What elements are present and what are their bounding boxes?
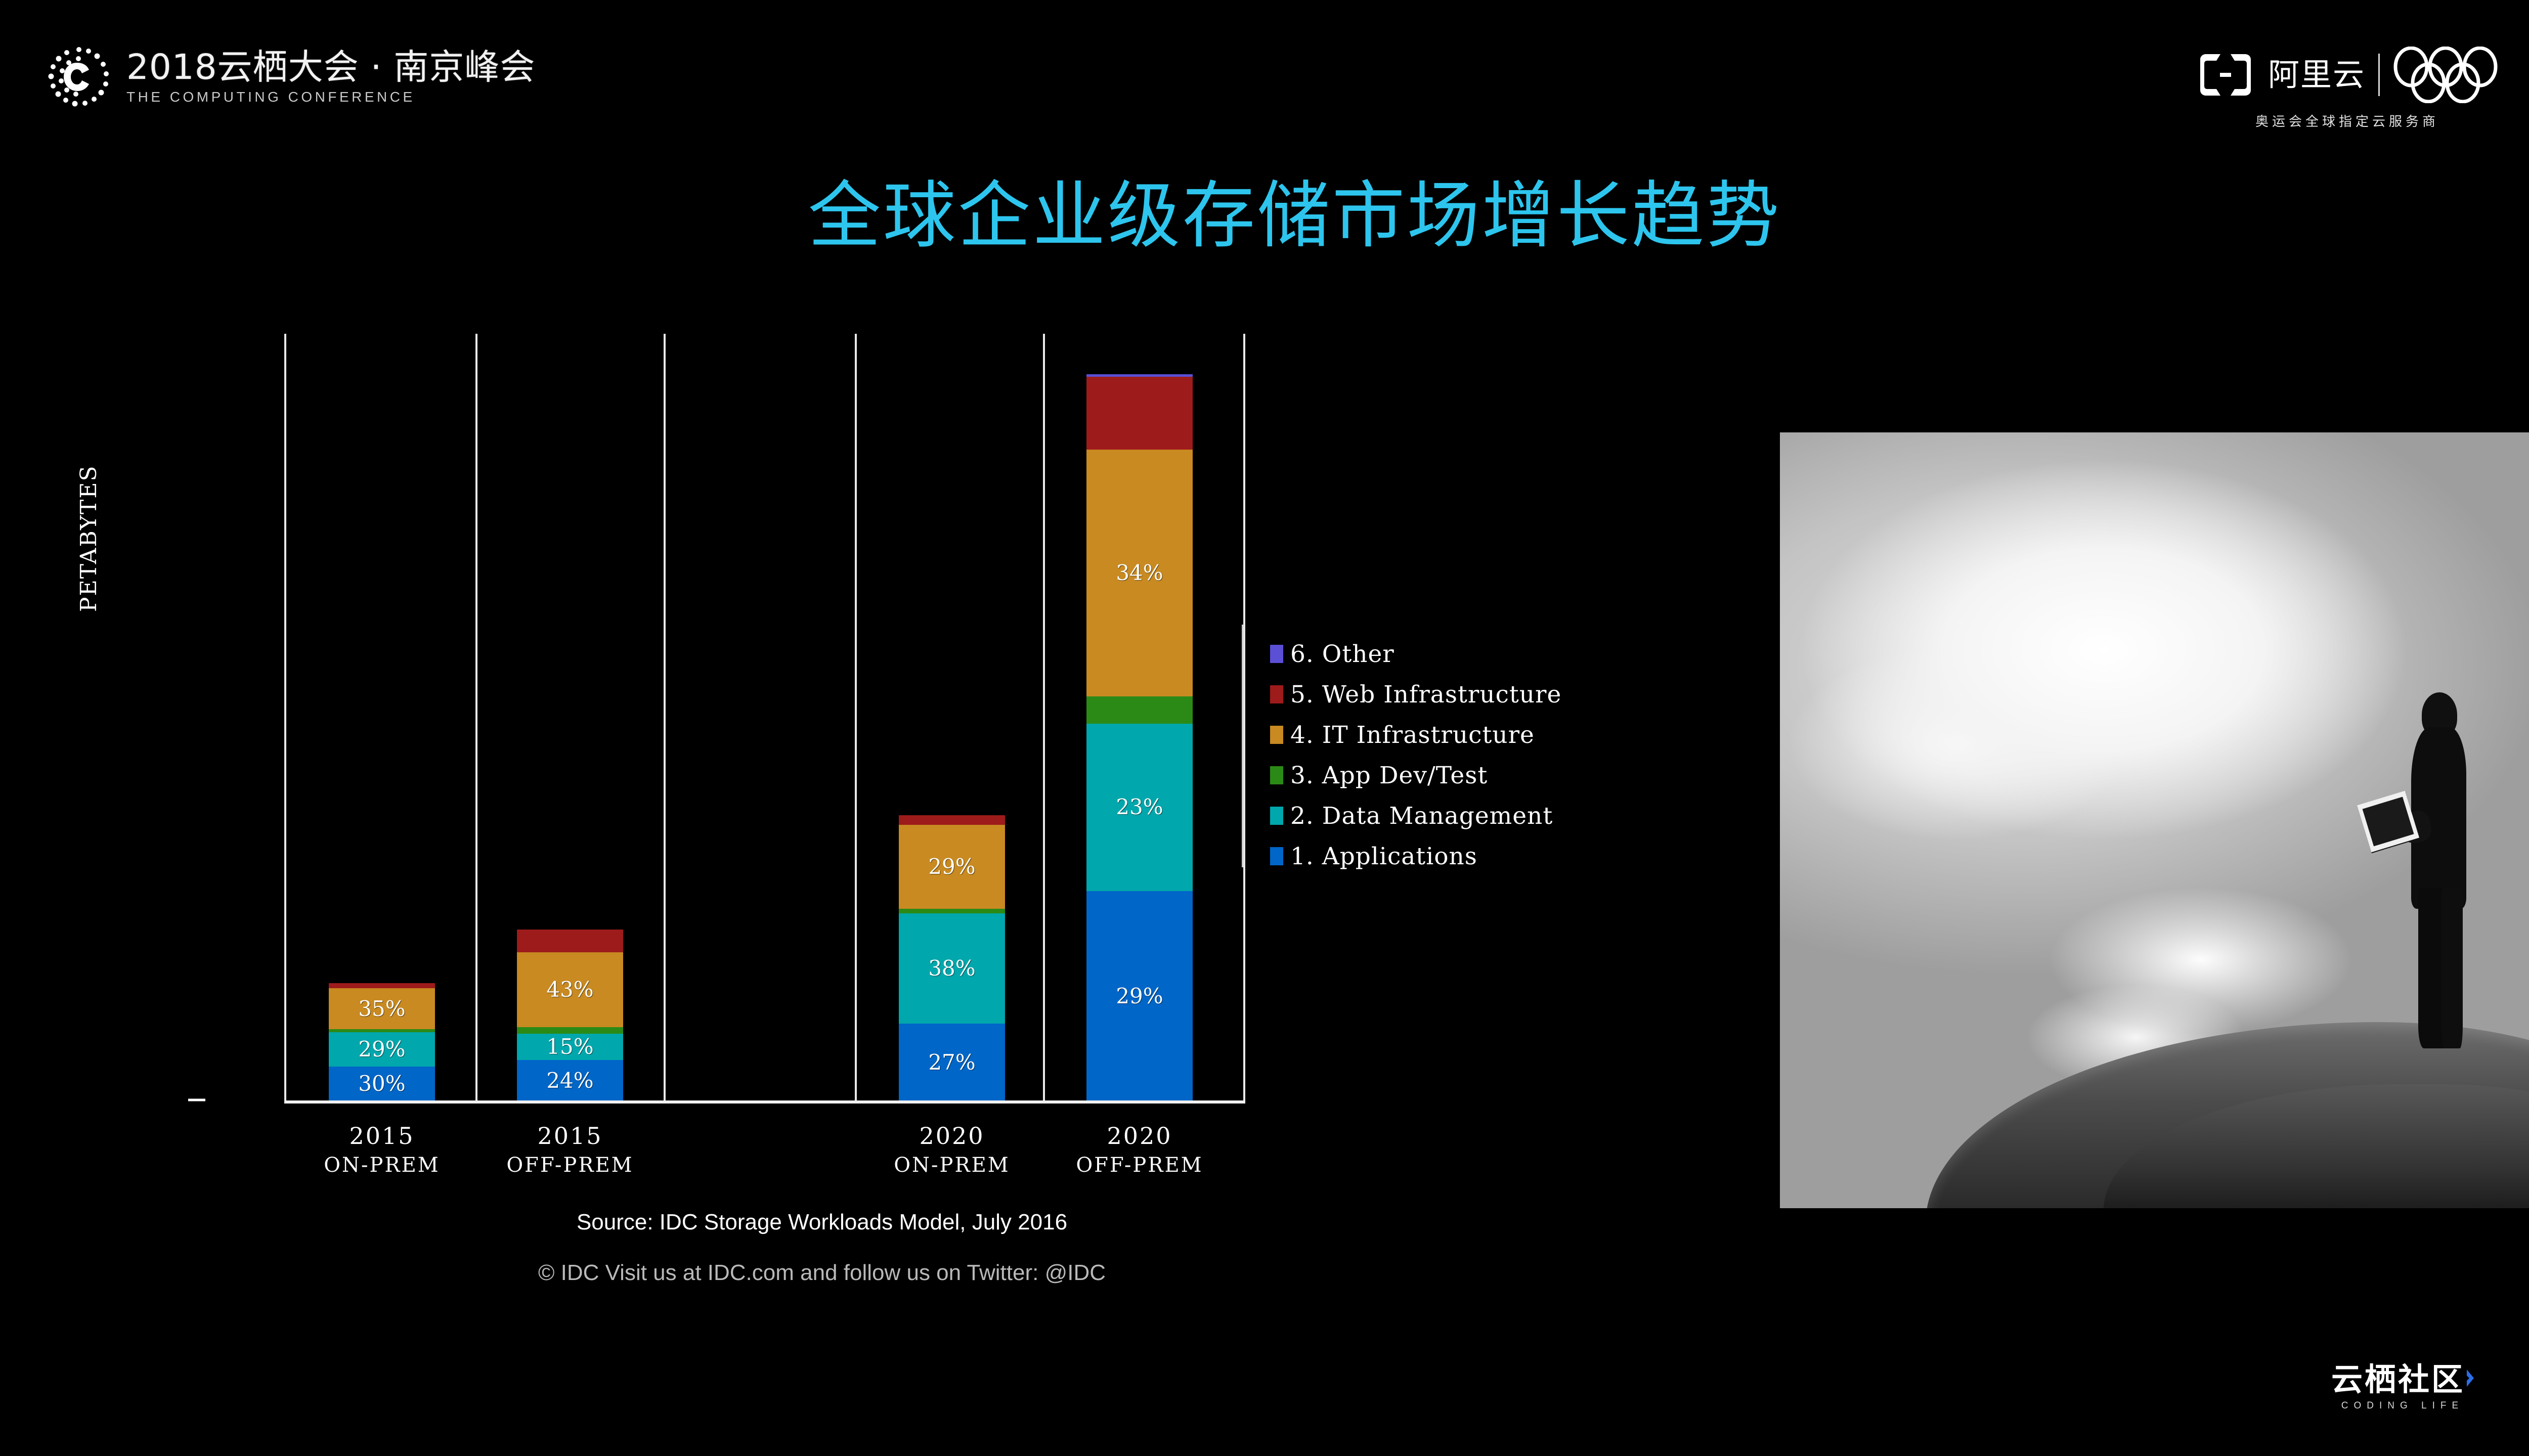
bar-segment-data_management[interactable]: 15% [517,1034,623,1060]
category-separator-line [284,334,286,1101]
y-axis-title: PETABYTES [76,465,102,612]
category-premise: ON-PREM [291,1152,473,1179]
cloud-businessman-photo [1780,432,2529,1208]
bar-segment-label: 29% [358,1039,405,1060]
y-axis-tick-zero [188,1099,205,1101]
legend-label: 6. Other [1290,640,1394,668]
aliyun-sponsor-logo: 阿里云 奥运会全球指定云服务商 [2196,47,2498,130]
bar-segment-applications[interactable]: 24% [517,1060,623,1101]
olympic-rings-icon [2393,47,2498,103]
bar-segment-web_infrastructure[interactable] [517,930,623,953]
aliyun-tagline: 奥运会全球指定云服务商 [2255,111,2439,130]
legend-color-swatch [1270,726,1283,744]
legend-item[interactable]: 3. App Dev/Test [1270,755,1561,796]
bar-segment-label: 24% [546,1070,593,1091]
bar-stack[interactable]: 43%15%24% [517,930,623,1101]
legend-item[interactable]: 4. IT Infrastructure [1270,715,1561,755]
bar-segment-web_infrastructure[interactable] [329,983,435,988]
legend-item[interactable]: 6. Other [1270,634,1561,674]
bar-segment-web_infrastructure[interactable] [1086,377,1193,449]
yunqi-brand-cn: 云栖社区 [2331,1364,2465,1395]
category-year: 2020 [861,1120,1043,1152]
yunqi-chevron-icon [2467,1363,2474,1395]
bar-segment-app_dev_test[interactable] [517,1027,623,1034]
bar-segment-it_infrastructure[interactable]: 29% [899,825,1005,909]
legend-label: 5. Web Infrastructure [1290,681,1561,709]
aliyun-bracket-icon [2196,54,2255,96]
bar-segment-applications[interactable]: 30% [329,1067,435,1101]
legend-color-swatch [1270,685,1283,703]
category-separator-line [1043,334,1045,1101]
category-year: 2015 [479,1120,661,1152]
bar-stack[interactable]: 29%38%27% [899,815,1005,1101]
x-axis-category-label: 2015OFF-PREM [479,1120,661,1179]
category-separator-line [664,334,666,1101]
bar-segment-label: 30% [358,1073,405,1094]
category-year: 2015 [291,1120,473,1152]
legend-label: 4. IT Infrastructure [1290,721,1535,749]
legend-label: 3. App Dev/Test [1290,762,1488,789]
legend-color-swatch [1270,807,1283,825]
bar-segment-it_infrastructure[interactable]: 34% [1086,450,1193,696]
bar-segment-data_management[interactable]: 38% [899,913,1005,1023]
plot-area: 35%29%30%43%15%24%29%38%27%34%23%29% [284,334,1245,1101]
bar-segment-label: 29% [928,856,975,877]
x-axis-category-label: 2020OFF-PREM [1049,1120,1231,1179]
figure-leg-back [2441,888,2463,1048]
bar-segment-applications[interactable]: 27% [899,1024,1005,1101]
legend-label: 2. Data Management [1290,802,1553,830]
category-premise: OFF-PREM [479,1152,661,1179]
legend-color-swatch [1270,645,1283,663]
aliyun-brand-cn: 阿里云 [2268,59,2365,91]
legend-divider [1242,625,1243,867]
category-premise: ON-PREM [861,1152,1043,1179]
bar-segment-label: 38% [928,958,975,979]
bar-segment-data_management[interactable]: 29% [329,1032,435,1066]
x-axis-category-label: 2020ON-PREM [861,1120,1043,1179]
bar-segment-it_infrastructure[interactable]: 43% [517,952,623,1027]
category-separator-line [475,334,477,1101]
x-axis-baseline [284,1100,1245,1104]
legend-color-swatch [1270,847,1283,865]
legend-color-swatch [1270,766,1283,784]
category-premise: OFF-PREM [1049,1152,1231,1179]
x-axis-category-label: 2015ON-PREM [291,1120,473,1179]
businessman-silhouette [2395,692,2484,1041]
stacked-bar-chart: PETABYTES 50,000100,000150,000200,000250… [0,0,1315,1456]
bar-segment-label: 35% [358,998,405,1020]
chart-legend: 6. Other5. Web Infrastructure4. IT Infra… [1242,634,1561,876]
legend-label: 1. Applications [1290,843,1477,870]
bar-segment-label: 23% [1116,797,1163,818]
bar-segment-app_dev_test[interactable] [899,909,1005,914]
logo-divider [2378,54,2380,96]
bar-segment-data_management[interactable]: 23% [1086,724,1193,891]
category-separator-line [855,334,857,1101]
bar-segment-label: 29% [1116,986,1163,1007]
bar-segment-it_infrastructure[interactable]: 35% [329,988,435,1029]
yunqi-tagline: CODING LIFE [2341,1400,2464,1411]
copyright-note: © IDC Visit us at IDC.com and follow us … [0,1260,1644,1286]
source-note: Source: IDC Storage Workloads Model, Jul… [0,1210,1644,1235]
bar-segment-applications[interactable]: 29% [1086,891,1193,1101]
yunqi-community-logo: 云栖社区 CODING LIFE [2331,1363,2474,1411]
legend-item[interactable]: 5. Web Infrastructure [1270,674,1561,715]
category-year: 2020 [1049,1120,1231,1152]
bar-stack[interactable]: 35%29%30% [329,983,435,1101]
legend-item[interactable]: 2. Data Management [1270,796,1561,836]
bar-segment-web_infrastructure[interactable] [899,815,1005,825]
bar-segment-label: 34% [1116,562,1163,584]
bar-segment-label: 43% [546,979,593,1000]
bar-segment-label: 15% [546,1036,593,1057]
bar-stack[interactable]: 34%23%29% [1086,374,1193,1101]
bar-segment-label: 27% [928,1052,975,1073]
bar-segment-app_dev_test[interactable] [1086,696,1193,724]
legend-item[interactable]: 1. Applications [1270,836,1561,876]
